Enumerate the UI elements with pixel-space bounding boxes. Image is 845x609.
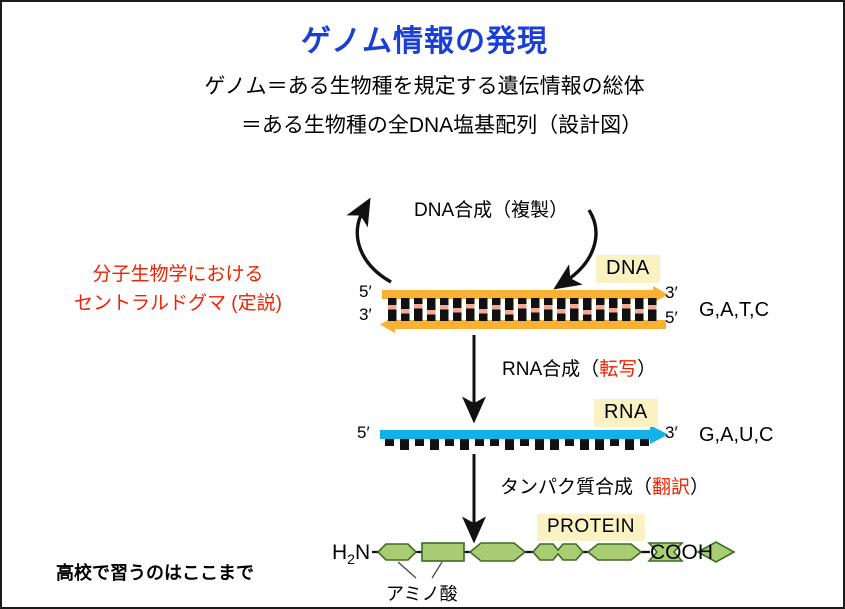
rna-badge: RNA bbox=[594, 399, 658, 427]
page-title: ゲノム情報の発現 bbox=[2, 16, 845, 60]
rna-right-end: 3′ bbox=[665, 423, 678, 443]
dna-top-left-end: 5′ bbox=[359, 282, 372, 302]
amino-acid-label: アミノ酸 bbox=[386, 580, 458, 606]
dna-bottom-left-end: 3′ bbox=[359, 305, 372, 325]
translation-prefix: タンパク質合成（ bbox=[500, 477, 652, 498]
dna-top-right-end: 3′ bbox=[665, 283, 678, 303]
protein-residue-5 bbox=[588, 544, 641, 560]
central-dogma-caption: 分子生物学における セントラルドグマ (定説) bbox=[38, 260, 318, 318]
amino-acid-leader-lines bbox=[398, 562, 442, 578]
rna-bases-label: G,A,U,C bbox=[699, 424, 773, 447]
protein-residue-1 bbox=[378, 544, 416, 560]
replication-arrow-right bbox=[566, 210, 596, 281]
rna-left-end: 5′ bbox=[357, 423, 370, 443]
rna-strand bbox=[380, 425, 668, 450]
transcription-suffix: ） bbox=[637, 359, 656, 380]
dna-bottom-right-end: 5′ bbox=[665, 308, 678, 328]
transcription-highlight: 転写 bbox=[599, 359, 637, 380]
translation-label: タンパク質合成（翻訳） bbox=[500, 472, 709, 499]
n-terminus-sub: 2 bbox=[347, 551, 355, 567]
subtitle-line-1: ゲノム＝ある生物種を規定する遺伝情報の総体 bbox=[2, 70, 845, 100]
rna-base-ticks bbox=[385, 439, 649, 450]
translation-highlight: 翻訳 bbox=[652, 477, 690, 498]
c-terminus-label: COOH bbox=[650, 541, 713, 565]
transcription-prefix: RNA合成（ bbox=[502, 359, 599, 380]
replication-arrow-left bbox=[357, 211, 391, 282]
replication-label: DNA合成（複製） bbox=[414, 195, 568, 222]
translation-suffix: ） bbox=[690, 477, 709, 498]
n-terminus-label: H2N bbox=[332, 541, 370, 567]
transcription-label: RNA合成（転写） bbox=[502, 354, 656, 381]
n-terminus-main: H bbox=[332, 541, 347, 564]
n-terminus-tail: N bbox=[355, 541, 370, 564]
dna-base-pair-rungs bbox=[388, 298, 657, 321]
high-school-note: 高校で習うのはここまで bbox=[56, 559, 254, 585]
central-dogma-line-2: セントラルドグマ (定説) bbox=[38, 289, 318, 318]
protein-residue-2 bbox=[422, 543, 464, 561]
dna-badge: DNA bbox=[596, 255, 660, 283]
dna-double-strand bbox=[380, 286, 668, 333]
slide-canvas: ゲノム情報の発現 ゲノム＝ある生物種を規定する遺伝情報の総体 ＝ある生物種の全D… bbox=[0, 0, 845, 609]
subtitle-line-2: ＝ある生物種の全DNA塩基配列（設計図） bbox=[2, 109, 845, 139]
protein-residue-4 bbox=[533, 544, 583, 560]
central-dogma-line-1: 分子生物学における bbox=[38, 260, 318, 289]
dna-bases-label: G,A,T,C bbox=[699, 299, 769, 322]
protein-residue-3 bbox=[470, 543, 525, 561]
protein-badge: PROTEIN bbox=[537, 514, 645, 541]
